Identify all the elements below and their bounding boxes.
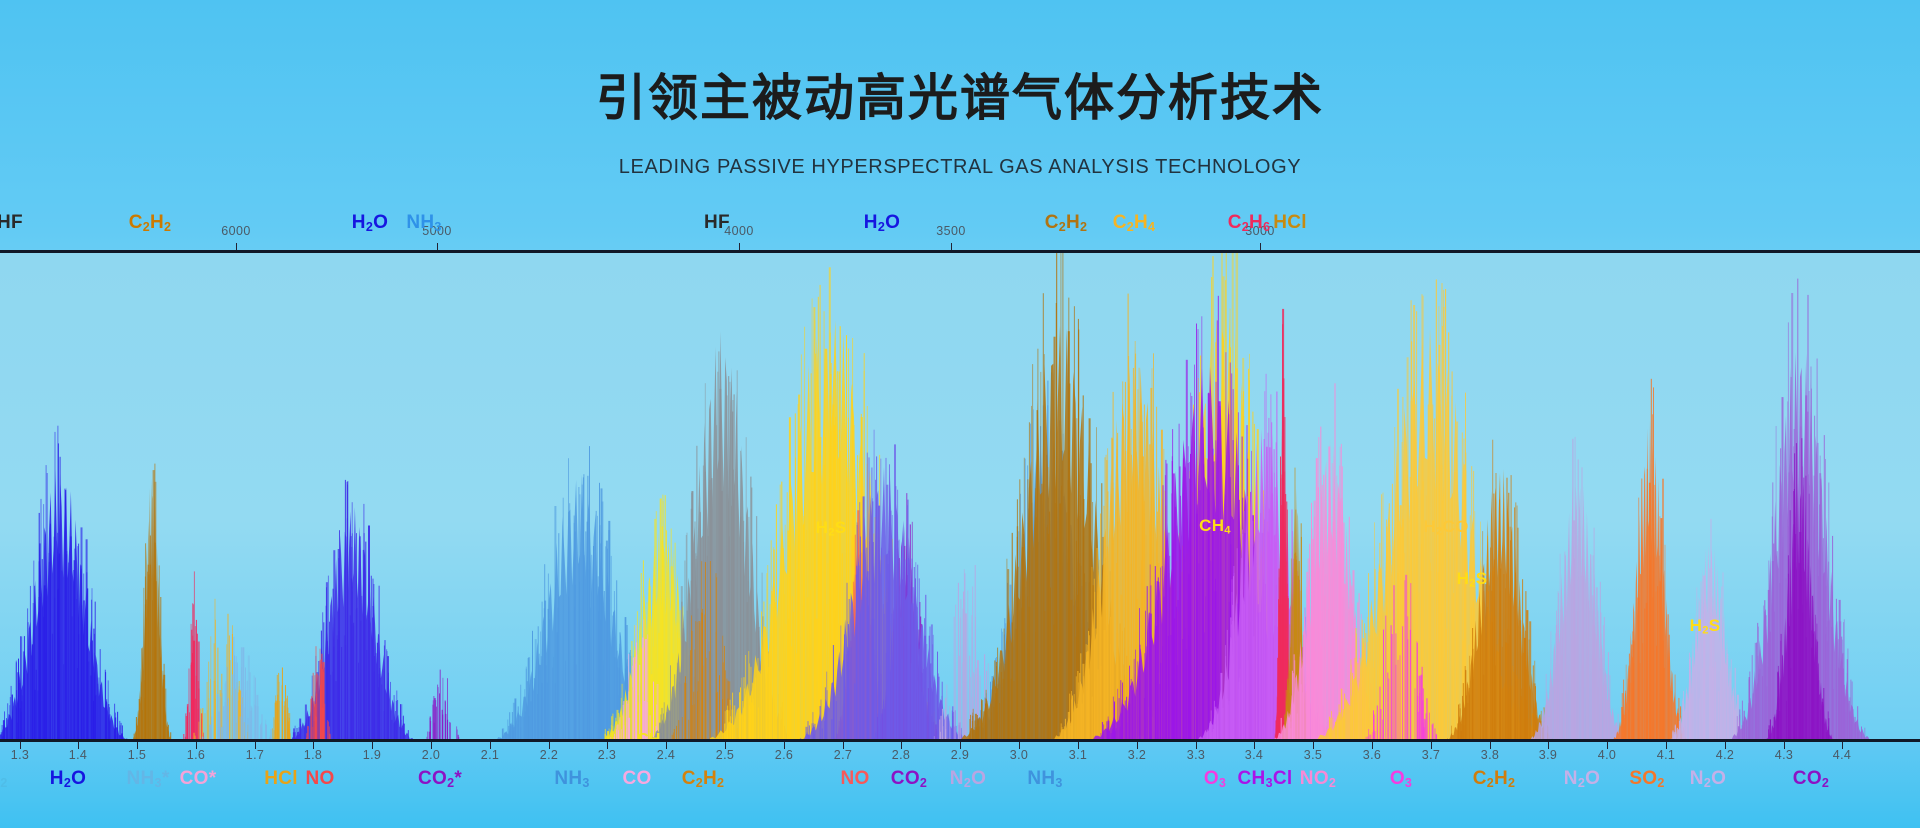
species-label-nh3: NH3 (1027, 768, 1062, 790)
species-label-ch4: CH4 (1199, 516, 1231, 536)
species-label-co2: CO2* (418, 768, 462, 790)
bottom-axis-tick-label: 2.2 (540, 748, 559, 762)
species-label-co2: CO2 (891, 768, 927, 790)
species-label-h2o: H2O (352, 212, 388, 234)
species-label-h2co: H2CO (1423, 517, 1468, 537)
bottom-axis-tick-label: 2.8 (892, 748, 911, 762)
bottom-axis-tick-label: 3.2 (1128, 748, 1147, 762)
bottom-axis-tick-label: 2.4 (657, 748, 676, 762)
bottom-axis-tick-label: 1.3 (11, 748, 30, 762)
species-label-o3: O3 (1204, 768, 1226, 790)
species-label-h2s: H2S (816, 518, 847, 538)
species-label-co2: CO2 (1793, 768, 1829, 790)
species-label-n2o: N2O (950, 768, 986, 790)
species-label-n2o: N2O (1690, 768, 1726, 790)
species-label-hf: HF (704, 212, 730, 234)
species-label-hf: HF (0, 212, 23, 234)
species-label-nh3: NH3 (554, 768, 589, 790)
species-label-c2h6: C2H6 (1228, 212, 1271, 234)
species-label-c2h2: C2H2 (1473, 768, 1516, 790)
species-label-c2h2: C2H2 (1045, 212, 1088, 234)
species-label-co: CO* (180, 768, 217, 790)
bottom-axis-tick-label: 3.6 (1363, 748, 1382, 762)
species-label-c2h2cut: 2 (0, 768, 7, 790)
species-label-h2o: H2O (50, 768, 86, 790)
bottom-axis-tick-label: 2.5 (716, 748, 735, 762)
spectrum-plot-area: CH4C2H4*C2H6*H2S*H2CO*CH4H2SCH4H2COH2SH2… (0, 250, 1920, 742)
bottom-axis-tick-label: 3.7 (1422, 748, 1441, 762)
bottom-axis-tick-label: 4.4 (1833, 748, 1852, 762)
bottom-axis-tick-label: 1.6 (187, 748, 206, 762)
species-label-co: CO (622, 768, 651, 790)
bottom-axis-tick-label: 2.1 (481, 748, 500, 762)
species-label-hcl: HCl (264, 768, 298, 790)
species-label-c2h2: C2H2 (682, 768, 725, 790)
species-label-no2: NO2 (1300, 768, 1336, 790)
bottom-axis-tick-label: 3.4 (1245, 748, 1264, 762)
bottom-axis-tick-label: 3.9 (1539, 748, 1558, 762)
species-label-nh3: NH3 (406, 212, 441, 234)
species-label-ch3cl: CH3Cl (1238, 768, 1293, 790)
species-label-n2o: N2O (1564, 768, 1600, 790)
bottom-axis-tick-label: 4.3 (1775, 748, 1794, 762)
bottom-axis-tick-label: 4.2 (1716, 748, 1735, 762)
species-label-so2: SO2 (1629, 768, 1664, 790)
species-label-h2s: H2S (1690, 616, 1721, 636)
bottom-axis-tick-label: 1.5 (128, 748, 147, 762)
species-label-hcl: HCl (1273, 212, 1307, 234)
bottom-axis-tick-label: 2.0 (422, 748, 441, 762)
bottom-axis-tick-label: 1.9 (363, 748, 382, 762)
species-label-ch4: CH4 (637, 731, 667, 742)
bottom-axis-tick-label: 2.6 (775, 748, 794, 762)
species-label-h2s: H2S (1457, 569, 1488, 589)
top-species-labels: HFC2H2H2ONH3HFH2OC2H2C2H4C2H6HCl (0, 0, 1920, 250)
bottom-axis-tick-label: 1.8 (304, 748, 323, 762)
bottom-axis-tick-label: 2.7 (834, 748, 853, 762)
species-label-no: NO (305, 768, 334, 790)
species-label-nh3: NH3* (126, 768, 169, 790)
bottom-axis-tick-label: 3.3 (1187, 748, 1206, 762)
species-label-h2o: H2O (864, 212, 900, 234)
bottom-axis-tick-label: 2.9 (951, 748, 970, 762)
bottom-axis-tick-label: 1.7 (246, 748, 265, 762)
bottom-axis-tick-label: 3.0 (1010, 748, 1029, 762)
bottom-axis-tick-label: 4.1 (1657, 748, 1676, 762)
bottom-axis-tick-label: 4.0 (1598, 748, 1617, 762)
species-label-c2h2: C2H2 (129, 212, 172, 234)
bottom-axis-tick-label: 3.8 (1481, 748, 1500, 762)
species-label-no: NO (840, 768, 869, 790)
species-label-o3: O3 (1390, 768, 1412, 790)
bottom-axis-tick-label: 3.5 (1304, 748, 1323, 762)
bottom-axis-tick-label: 3.1 (1069, 748, 1088, 762)
bottom-axis-tick-label: 1.4 (69, 748, 88, 762)
species-label-c2h4: C2H4 (1113, 212, 1156, 234)
bottom-axis-tick-label: 2.3 (598, 748, 617, 762)
inplot-species-labels: CH4C2H4*C2H6*H2S*H2CO*CH4H2SCH4H2COH2SH2… (0, 253, 1920, 742)
